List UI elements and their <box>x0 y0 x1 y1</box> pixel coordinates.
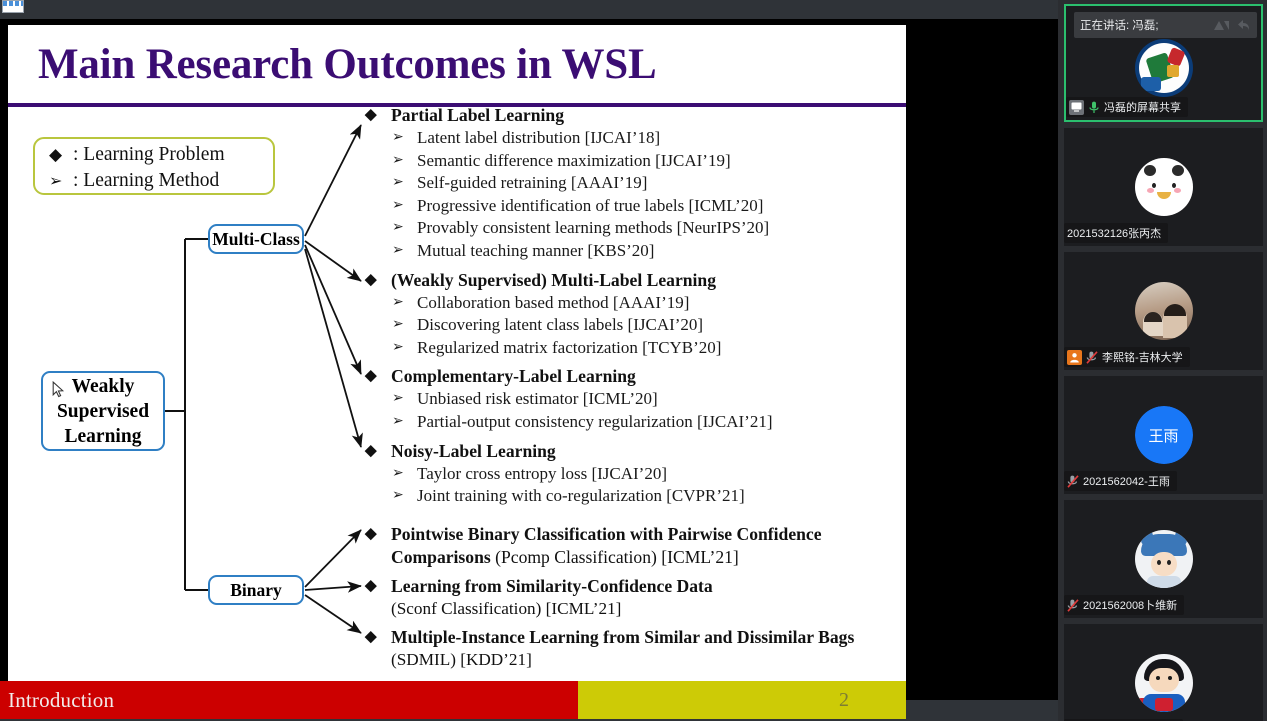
node-weakly-supervised-learning[interactable]: Weakly Supervised Learning <box>41 371 165 451</box>
topic-heading-text: (Weakly Supervised) Multi-Label Learning <box>391 269 895 292</box>
participant-name-bar: 李熙铭-吉林大学 <box>1064 347 1190 367</box>
avatar: 王雨 <box>1135 406 1193 464</box>
footer-section-label: Introduction <box>0 688 114 713</box>
topic-heading-text: Pointwise Binary Classification with Pai… <box>391 523 895 569</box>
avatar-image <box>1135 158 1193 216</box>
diamond-bullet-icon: ◆ <box>365 440 391 463</box>
method-text: Progressive identification of true label… <box>417 195 763 218</box>
window-chrome-top <box>0 0 1058 19</box>
avatar-image <box>1135 282 1193 340</box>
participant-tile[interactable]: 2021562008卜维新 <box>1064 500 1263 618</box>
avatar-image <box>1135 654 1193 712</box>
topic-heading-text: Noisy-Label Learning <box>391 440 895 463</box>
back-arrow-icon[interactable] <box>1237 19 1251 32</box>
screen-share-icon <box>1069 100 1084 115</box>
method-text: Provably consistent learning methods [Ne… <box>417 217 769 240</box>
method-text: Semantic difference maximization [IJCAI’… <box>417 150 731 173</box>
topic-heading: ◆ Complementary-Label Learning <box>365 365 895 388</box>
avatar <box>1135 282 1193 340</box>
method-text: Self-guided retraining [AAAI’19] <box>417 172 647 195</box>
participant-name: 2021532126张丙杰 <box>1067 225 1161 241</box>
method-text: Partial-output consistency regularizatio… <box>417 411 772 434</box>
participant-name: 李熙铭-吉林大学 <box>1102 349 1183 365</box>
topic-heading-text: Learning from Similarity-Confidence Data <box>391 575 895 598</box>
method-item: ➢Collaboration based method [AAAI’19] <box>365 292 895 315</box>
arrow-bullet-icon: ➢ <box>365 172 417 195</box>
method-item: ➢Semantic difference maximization [IJCAI… <box>365 150 895 173</box>
participant-tile-screen-share[interactable]: 正在讲话: 冯磊; <box>1064 4 1263 122</box>
method-text: Joint training with co-regularization [C… <box>417 485 745 508</box>
topic-heading: ◆ (Weakly Supervised) Multi-Label Learni… <box>365 269 895 292</box>
window-icon <box>2 0 24 13</box>
participant-tile[interactable]: 李熙铭-吉林大学 <box>1064 252 1263 370</box>
participant-tile[interactable]: 王雨 2021562042-王雨 <box>1064 376 1263 494</box>
tile-header-icons[interactable] <box>1213 19 1251 32</box>
method-item: ➢Regularized matrix factorization [TCYB’… <box>365 337 895 360</box>
avatar-image <box>1135 39 1193 97</box>
method-item: ➢Progressive identification of true labe… <box>365 195 895 218</box>
person-icon <box>1067 350 1082 365</box>
topic-heading-text: Multiple-Instance Learning from Similar … <box>391 626 895 649</box>
diamond-bullet-icon: ◆ <box>365 365 391 388</box>
node-label: Weakly Supervised Learning <box>57 374 149 449</box>
arrow-bullet-icon: ➢ <box>365 195 417 218</box>
topic-heading-text: Partial Label Learning <box>391 104 895 127</box>
method-text: Collaboration based method [AAAI’19] <box>417 292 689 315</box>
arrow-bullet-icon: ➢ <box>365 292 417 315</box>
diamond-bullet-icon: ◆ <box>365 575 391 598</box>
method-item: ➢Latent label distribution [IJCAI’18] <box>365 127 895 150</box>
arrow-bullet-icon: ➢ <box>365 337 417 360</box>
outline-content: ◆ Partial Label Learning ➢Latent label d… <box>365 104 895 672</box>
avatar <box>1135 158 1193 216</box>
method-text: Unbiased risk estimator [ICML’20] <box>417 388 658 411</box>
participant-name-bar: 2021562008卜维新 <box>1064 595 1184 615</box>
diamond-bullet-icon: ◆ <box>365 269 391 292</box>
participant-rail[interactable]: 正在讲话: 冯磊; <box>1058 0 1267 721</box>
avatar <box>1135 39 1193 97</box>
avatar <box>1135 530 1193 588</box>
topic-continuation: (SDMIL) [KDD’21] <box>365 649 895 672</box>
topic-heading-text: Complementary-Label Learning <box>391 365 895 388</box>
footer-section-bar: Introduction <box>0 681 578 719</box>
arrow-bullet-icon: ➢ <box>365 240 417 263</box>
page-number: 2 <box>839 689 906 712</box>
mic-muted-icon <box>1067 598 1079 613</box>
method-item: ➢Unbiased risk estimator [ICML’20] <box>365 388 895 411</box>
mic-muted-icon <box>1067 474 1079 489</box>
method-text: Latent label distribution [IJCAI’18] <box>417 127 660 150</box>
mic-icon <box>1088 100 1100 115</box>
diamond-bullet-icon: ◆ <box>365 104 391 127</box>
screen: Main Research Outcomes in WSL ◆ : Learni… <box>0 0 1267 721</box>
arrow-bullet-icon: ➢ <box>365 463 417 486</box>
active-speaker-label: 正在讲话: 冯磊; <box>1080 17 1159 33</box>
method-item: ➢Discovering latent class labels [IJCAI’… <box>365 314 895 337</box>
method-text: Discovering latent class labels [IJCAI’2… <box>417 314 703 337</box>
arrow-bullet-icon: ➢ <box>365 411 417 434</box>
arrow-bullet-icon: ➢ <box>365 485 417 508</box>
arrow-bullet-icon: ➢ <box>365 217 417 240</box>
method-item: ➢Provably consistent learning methods [N… <box>365 217 895 240</box>
topic-heading: ◆ Learning from Similarity-Confidence Da… <box>365 575 895 598</box>
topic-heading: ◆ Noisy-Label Learning <box>365 440 895 463</box>
method-item: ➢Taylor cross entropy loss [IJCAI’20] <box>365 463 895 486</box>
topic-heading: ◆ Partial Label Learning <box>365 104 895 127</box>
node-binary[interactable]: Binary <box>208 575 304 605</box>
collapse-icon[interactable] <box>1213 19 1235 32</box>
arrow-bullet-icon: ➢ <box>365 127 417 150</box>
participant-name: 2021562008卜维新 <box>1083 597 1177 613</box>
arrow-bullet-icon: ➢ <box>365 314 417 337</box>
participant-name-bar: 2021532126张丙杰 <box>1064 223 1168 243</box>
footer-page-bar: 2 <box>578 681 906 719</box>
participant-name: 2021562042-王雨 <box>1083 473 1170 489</box>
method-item: ➢Self-guided retraining [AAAI’19] <box>365 172 895 195</box>
method-text: Mutual teaching manner [KBS’20] <box>417 240 654 263</box>
method-item: ➢Joint training with co-regularization [… <box>365 485 895 508</box>
method-text: Taylor cross entropy loss [IJCAI’20] <box>417 463 667 486</box>
topic-heading: ◆ Multiple-Instance Learning from Simila… <box>365 626 895 649</box>
mic-muted-icon <box>1086 350 1098 365</box>
presentation-slide: Main Research Outcomes in WSL ◆ : Learni… <box>0 19 906 700</box>
participant-name-bar: 2021562042-王雨 <box>1064 471 1177 491</box>
topic-continuation: (Sconf Classification) [ICML’21] <box>365 598 895 621</box>
avatar-image <box>1135 530 1193 588</box>
diamond-bullet-icon: ◆ <box>365 523 391 546</box>
arrow-bullet-icon: ➢ <box>365 150 417 173</box>
participant-name-bar: 冯磊的屏幕共享 <box>1066 97 1188 117</box>
participant-tile[interactable]: 2021532111徐一放 <box>1064 624 1263 721</box>
avatar <box>1135 654 1193 712</box>
participant-name: 冯磊的屏幕共享 <box>1104 99 1181 115</box>
method-text: Regularized matrix factorization [TCYB’2… <box>417 337 721 360</box>
method-item: ➢Partial-output consistency regularizati… <box>365 411 895 434</box>
avatar-initials: 王雨 <box>1135 406 1193 464</box>
diamond-bullet-icon: ◆ <box>365 626 391 649</box>
active-speaker-banner: 正在讲话: 冯磊; <box>1074 12 1257 38</box>
participant-tile[interactable]: 2021532126张丙杰 <box>1064 128 1263 246</box>
method-item: ➢Mutual teaching manner [KBS’20] <box>365 240 895 263</box>
node-multi-class[interactable]: Multi-Class <box>208 224 304 254</box>
arrow-bullet-icon: ➢ <box>365 388 417 411</box>
topic-heading: ◆ Pointwise Binary Classification with P… <box>365 523 895 569</box>
